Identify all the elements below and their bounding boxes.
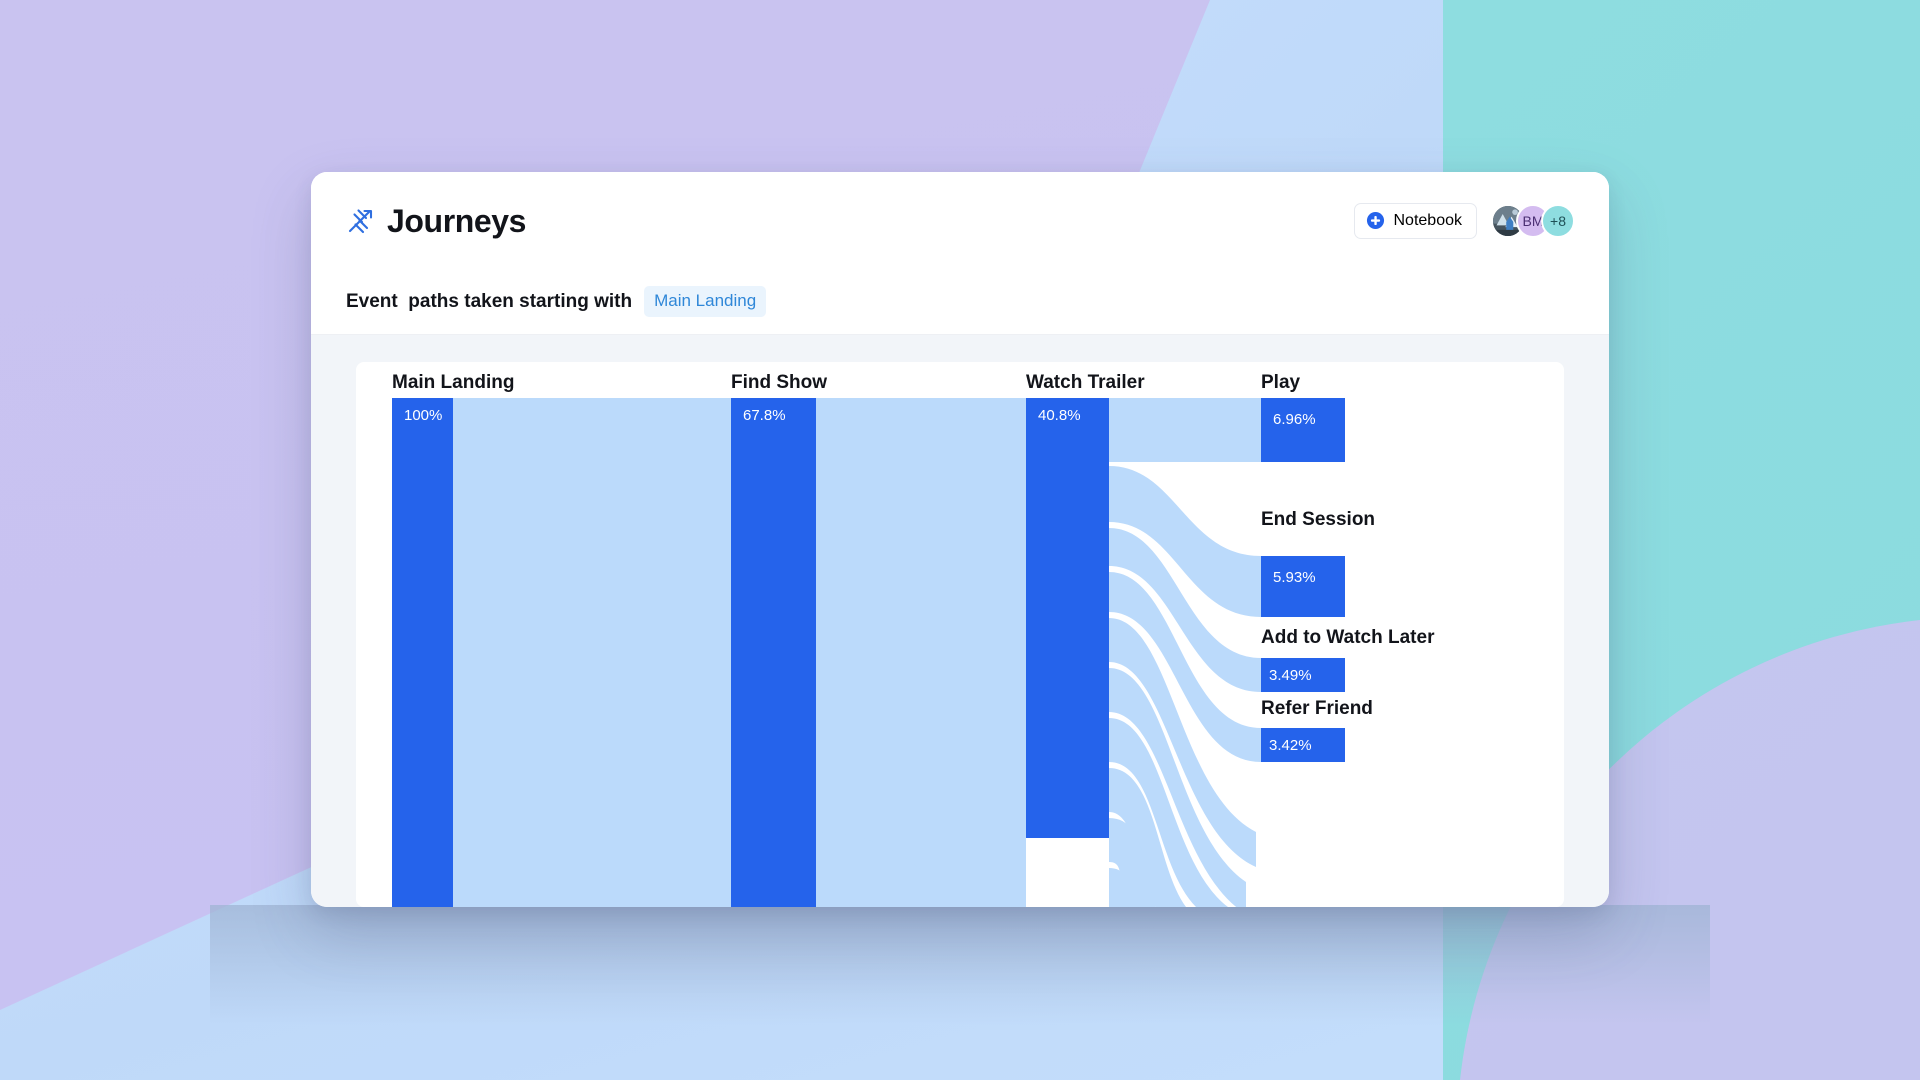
- plus-circle-icon: [1366, 211, 1385, 230]
- filter-description: Event paths taken starting with: [346, 291, 632, 313]
- journeys-logo-icon: [346, 206, 376, 236]
- node-bar-watch-trailer[interactable]: [1026, 398, 1109, 838]
- sankey-node-add-to-watch-later[interactable]: Add to Watch Later 3.49%: [1261, 627, 1435, 692]
- filter-bar: Event paths taken starting with Main Lan…: [311, 269, 1609, 335]
- node-value-end-session: 5.93%: [1273, 569, 1316, 586]
- app-window: Journeys Notebook: [311, 172, 1609, 907]
- column-label-main-landing: Main Landing: [392, 372, 514, 393]
- link-watch-trailer-play[interactable]: [1109, 398, 1261, 462]
- bg-card-shade: [210, 905, 1710, 1025]
- node-value-play: 6.96%: [1273, 411, 1316, 428]
- column-label-add-to-watch-later: Add to Watch Later: [1261, 627, 1435, 648]
- filter-chip-main-landing[interactable]: Main Landing: [644, 286, 766, 317]
- link-find-show-watch-trailer[interactable]: [816, 398, 1026, 907]
- sankey-node-end-session[interactable]: End Session 5.93%: [1261, 509, 1375, 617]
- sankey-node-find-show[interactable]: Find Show 67.8%: [731, 372, 827, 907]
- node-bar-end-session[interactable]: [1261, 556, 1345, 617]
- page-title: Journeys: [387, 205, 526, 237]
- node-bar-main-landing[interactable]: [392, 398, 453, 907]
- sankey-panel: Main Landing 100% Find Show 67.8% Watch …: [356, 362, 1564, 907]
- node-value-refer-friend: 3.42%: [1269, 737, 1312, 754]
- chart-stage: Main Landing 100% Find Show 67.8% Watch …: [311, 335, 1609, 907]
- sankey-node-refer-friend[interactable]: Refer Friend 3.42%: [1261, 698, 1373, 762]
- column-label-play: Play: [1261, 372, 1301, 393]
- avatar-group[interactable]: BM +8: [1491, 204, 1575, 238]
- header-actions: Notebook BM +8: [1354, 203, 1576, 239]
- node-value-find-show: 67.8%: [743, 407, 786, 424]
- node-bar-find-show[interactable]: [731, 398, 816, 907]
- node-bar-play[interactable]: [1261, 398, 1345, 462]
- column-label-watch-trailer: Watch Trailer: [1026, 372, 1145, 393]
- column-label-find-show: Find Show: [731, 372, 827, 393]
- sankey-links: [453, 398, 1261, 907]
- notebook-button-label: Notebook: [1394, 212, 1463, 230]
- sankey-diagram[interactable]: Main Landing 100% Find Show 67.8% Watch …: [356, 362, 1564, 907]
- app-header: Journeys Notebook: [311, 172, 1609, 269]
- avatar-overflow-count[interactable]: +8: [1541, 204, 1575, 238]
- sankey-node-play[interactable]: Play 6.96%: [1261, 372, 1345, 462]
- node-value-add-to-watch-later: 3.49%: [1269, 667, 1312, 684]
- brand: Journeys: [346, 205, 526, 237]
- link-main-landing-find-show[interactable]: [453, 398, 731, 907]
- column-label-refer-friend: Refer Friend: [1261, 698, 1373, 719]
- notebook-button[interactable]: Notebook: [1354, 203, 1478, 239]
- node-value-main-landing: 100%: [404, 407, 442, 424]
- column-label-end-session: End Session: [1261, 509, 1375, 530]
- node-value-watch-trailer: 40.8%: [1038, 407, 1081, 424]
